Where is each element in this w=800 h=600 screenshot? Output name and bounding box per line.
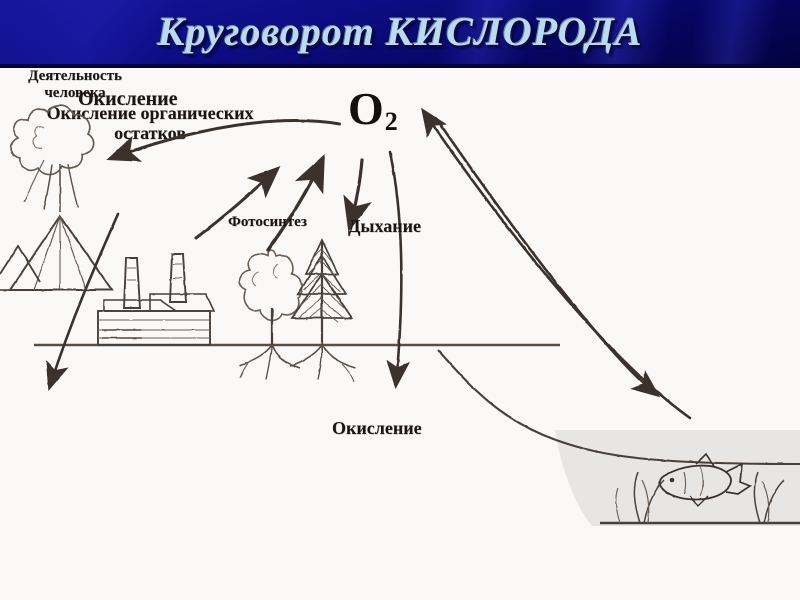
label-oxidation-bottom: Окисление <box>332 418 422 439</box>
label-breathing: Дыхание <box>348 216 421 237</box>
volcano-sketch <box>0 106 112 290</box>
formula-o2: O2 <box>348 82 397 135</box>
slide-header-banner: Круговорот КИСЛОРОДА <box>0 0 800 68</box>
deciduous-tree-sketch <box>240 250 303 380</box>
water-body <box>438 350 800 526</box>
oxygen-cycle-illustration <box>0 68 800 600</box>
diagram-canvas: Окисление Деятельность человека Фотосинт… <box>0 68 800 600</box>
conifer-tree-sketch <box>290 240 356 382</box>
label-oxidation-top: Окисление <box>78 88 178 111</box>
arrow-o2-to-ground-oxidation <box>390 152 401 384</box>
arrow-photosynthesis-to-o2 <box>268 160 322 250</box>
formula-o2-element: O <box>348 83 384 134</box>
label-photosynthesis: Фотосинтез <box>228 214 307 231</box>
arrow-o2-to-volcano <box>112 121 340 158</box>
formula-o2-subscript: 2 <box>385 107 398 136</box>
page-title: Круговорот КИСЛОРОДА <box>0 8 800 55</box>
slide-root: Круговорот КИСЛОРОДА <box>0 0 800 600</box>
arrow-o2-to-water <box>436 118 656 394</box>
factory-sketch <box>98 254 214 345</box>
